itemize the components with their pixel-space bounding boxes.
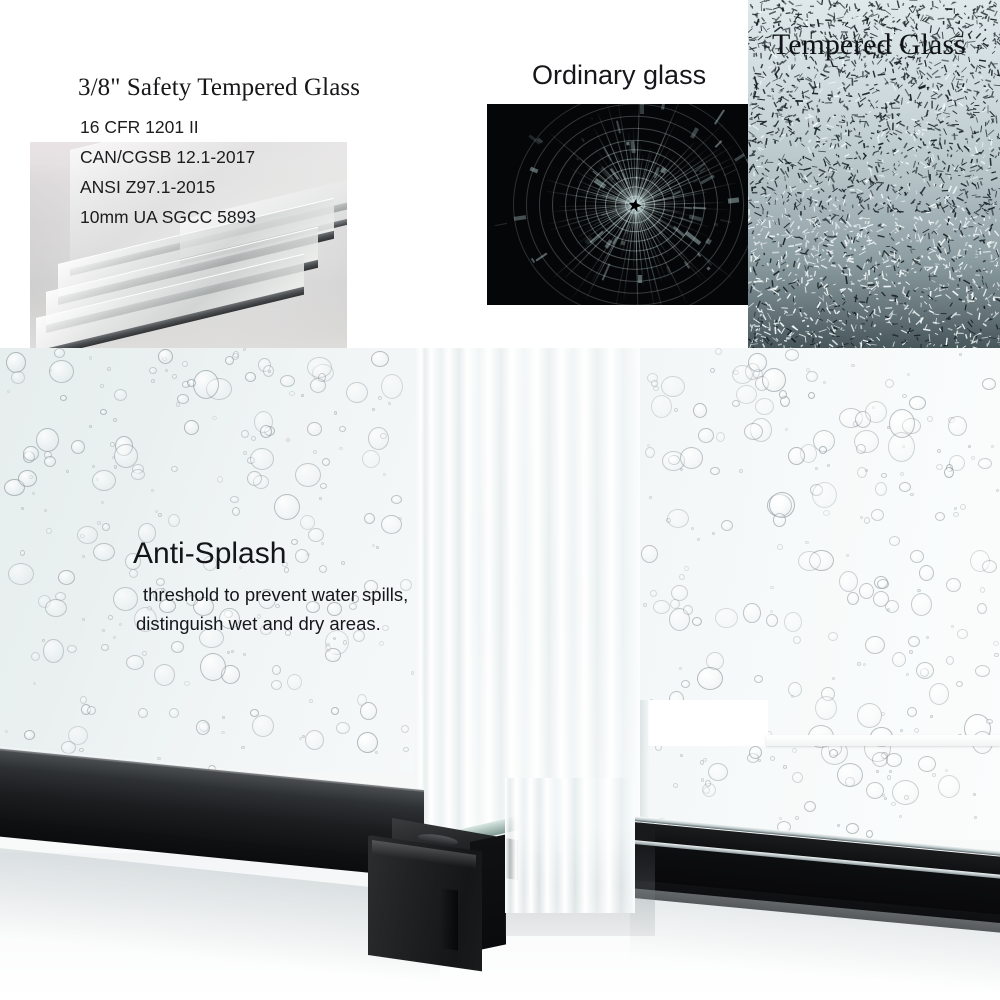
water-droplet: [747, 753, 759, 763]
water-droplet: [918, 756, 936, 772]
water-droplet: [24, 730, 35, 740]
water-droplet: [886, 753, 902, 767]
water-droplet: [20, 550, 25, 556]
water-droplet: [806, 368, 810, 372]
water-droplet: [100, 409, 107, 415]
water-droplet: [300, 515, 315, 530]
water-droplet: [813, 430, 835, 452]
water-droplet: [320, 483, 327, 489]
water-droplet: [291, 539, 298, 545]
water-droplet: [857, 703, 882, 728]
water-droplet: [937, 449, 941, 453]
water-droplet: [832, 677, 835, 680]
water-droplet: [302, 735, 305, 738]
water-droplet: [312, 364, 334, 382]
water-droplet: [272, 665, 281, 675]
water-droplet: [112, 456, 115, 459]
water-droplet: [697, 667, 723, 690]
water-droplet: [864, 517, 870, 524]
glass-shard: [640, 104, 644, 114]
water-droplet: [100, 384, 104, 388]
water-droplet: [948, 416, 967, 436]
water-droplet: [247, 471, 262, 486]
water-droplet: [286, 438, 290, 442]
water-droplet: [381, 374, 403, 399]
water-droplet: [902, 394, 907, 398]
water-droplet: [732, 400, 740, 407]
water-droplet: [945, 769, 948, 772]
water-droplet: [217, 476, 223, 483]
water-droplet: [23, 446, 39, 461]
water-droplet: [885, 379, 894, 388]
water-droplet: [176, 402, 180, 407]
water-droplet: [45, 599, 67, 617]
water-droplet: [982, 378, 996, 390]
water-droplet: [805, 541, 809, 544]
water-droplet: [305, 730, 324, 750]
water-droplet: [857, 467, 867, 478]
water-droplet: [54, 348, 65, 358]
water-droplet: [264, 426, 275, 436]
product-feature-image: 16 CFR 1201 II CAN/CGSB 12.1-2017 ANSI Z…: [0, 0, 1000, 1000]
water-droplet: [5, 730, 8, 733]
water-droplet: [762, 368, 786, 392]
water-droplet: [113, 636, 116, 639]
water-droplet: [669, 608, 690, 631]
water-droplet: [800, 444, 817, 463]
water-droplet: [8, 563, 34, 585]
water-droplet: [227, 651, 230, 654]
water-droplet: [881, 712, 885, 716]
water-droplet: [46, 528, 52, 534]
water-droplet: [877, 579, 889, 589]
water-droplet: [960, 504, 966, 510]
water-droplet: [411, 671, 414, 675]
water-droplet: [325, 648, 341, 662]
water-droplet: [182, 361, 188, 367]
water-droplet: [307, 422, 322, 436]
water-droplet: [403, 747, 409, 752]
water-droplet: [795, 816, 799, 820]
water-droplet: [43, 639, 64, 663]
water-droplet: [653, 600, 670, 614]
water-droplet: [791, 695, 794, 698]
water-droplet: [750, 418, 772, 442]
water-droplet: [855, 411, 871, 428]
water-droplet: [949, 455, 965, 471]
water-droplet: [715, 348, 722, 355]
water-droplet: [651, 395, 672, 418]
water-droplet: [953, 512, 959, 517]
water-droplet: [44, 509, 47, 512]
water-droplet: [119, 623, 122, 626]
water-droplet: [788, 447, 805, 465]
water-droplet: [252, 715, 274, 737]
water-droplet: [716, 432, 725, 442]
water-droplet: [668, 455, 680, 465]
water-droplet: [701, 778, 704, 782]
water-droplet: [87, 706, 96, 715]
water-droplet: [221, 665, 240, 684]
water-droplet: [243, 653, 246, 656]
water-droplet: [643, 603, 647, 607]
water-droplet: [42, 639, 45, 642]
water-droplet: [138, 708, 148, 718]
water-droplet: [232, 507, 240, 516]
water-droplet: [641, 545, 658, 563]
water-droplet: [126, 655, 144, 670]
water-droplet: [693, 403, 707, 418]
water-droplet: [110, 442, 115, 447]
water-droplet: [739, 469, 743, 473]
water-droplet: [339, 447, 343, 450]
water-droplet: [702, 783, 716, 797]
feature-title: Anti-Splash: [133, 537, 286, 571]
water-droplet: [721, 520, 733, 531]
water-droplet: [708, 763, 728, 781]
water-droplet: [936, 464, 943, 470]
water-droplet: [908, 636, 920, 647]
water-droplet: [909, 396, 926, 410]
water-droplet: [680, 754, 683, 757]
water-droplet: [854, 430, 879, 453]
water-droplet: [847, 592, 859, 605]
water-droplet: [147, 606, 152, 611]
water-droplet: [67, 645, 77, 653]
water-droplet: [769, 492, 795, 518]
water-droplet: [102, 629, 105, 632]
water-droplet: [158, 349, 173, 364]
water-droplet: [974, 816, 977, 819]
water-droplet: [971, 456, 975, 460]
water-droplet: [31, 652, 40, 661]
water-droplet: [944, 467, 954, 478]
water-droplet: [887, 608, 890, 611]
water-droplet: [318, 373, 326, 382]
water-droplet: [827, 464, 830, 467]
water-droplet: [309, 699, 313, 703]
water-droplet: [929, 683, 949, 705]
water-droplet: [157, 757, 161, 760]
water-droplet: [245, 372, 256, 382]
water-droplet: [705, 780, 711, 787]
water-droplet: [873, 591, 889, 607]
water-droplet: [671, 585, 688, 601]
glass-shard: [685, 207, 692, 209]
water-droplet: [872, 752, 888, 767]
water-droplet: [49, 360, 74, 383]
water-droplet: [680, 468, 683, 471]
ordinary-glass-label: Ordinary glass: [532, 60, 706, 91]
water-droplet: [113, 587, 138, 611]
water-droplet: [968, 445, 971, 448]
water-droplet: [667, 509, 689, 528]
water-droplet: [899, 482, 911, 492]
water-droplet: [187, 379, 196, 387]
water-droplet: [319, 565, 327, 573]
water-droplet: [885, 600, 899, 613]
water-droplet: [780, 396, 790, 407]
water-droplet: [837, 824, 840, 827]
water-droplet: [920, 668, 929, 677]
water-droplet: [230, 496, 239, 503]
water-droplet: [662, 451, 685, 471]
glass-shard: [626, 141, 630, 145]
water-droplet: [926, 636, 929, 639]
water-droplet: [169, 708, 179, 718]
water-droplet: [779, 390, 787, 399]
water-droplet: [881, 473, 887, 478]
water-droplet: [243, 348, 246, 351]
water-droplet: [993, 641, 999, 646]
water-droplet: [151, 379, 155, 383]
water-droplet: [165, 369, 168, 372]
water-droplet: [21, 507, 24, 510]
water-droplet: [325, 645, 331, 652]
water-droplet: [859, 583, 874, 599]
water-droplet: [973, 793, 976, 796]
water-droplet: [860, 516, 863, 519]
water-droplet: [154, 664, 175, 686]
water-droplet: [902, 445, 905, 448]
water-droplet: [837, 763, 863, 787]
water-droplet: [114, 465, 117, 469]
water-droplet: [253, 475, 269, 489]
water-droplet: [233, 351, 239, 358]
water-droplet: [168, 514, 180, 527]
water-droplet: [732, 365, 753, 384]
water-droplet: [978, 458, 992, 469]
water-droplet: [206, 378, 232, 400]
water-droplet: [865, 401, 887, 423]
bracket-notch: [440, 888, 458, 951]
ordinary-glass-broken-photo: [487, 104, 782, 305]
water-droplet: [80, 696, 87, 704]
water-droplet: [96, 478, 99, 481]
water-droplet: [810, 484, 823, 496]
water-droplet: [260, 425, 272, 438]
water-droplet: [846, 554, 849, 557]
water-droplet: [773, 513, 786, 527]
water-droplet: [785, 349, 799, 361]
water-droplet: [744, 423, 763, 440]
water-droplet: [829, 749, 838, 758]
water-droplet: [177, 394, 189, 404]
water-droplet: [341, 561, 345, 565]
water-droplet: [310, 378, 326, 393]
water-droplet: [295, 549, 309, 563]
water-droplet: [171, 641, 184, 653]
water-droplet: [907, 373, 910, 376]
water-droplet: [299, 737, 302, 740]
water-droplet: [92, 470, 116, 491]
water-droplet: [649, 496, 652, 499]
water-droplet: [372, 408, 375, 411]
water-droplet: [733, 370, 739, 375]
water-droplet: [200, 653, 226, 681]
water-droplet: [7, 390, 10, 393]
water-droplet: [82, 618, 85, 621]
water-droplet: [892, 780, 919, 805]
water-droplet: [876, 770, 879, 773]
water-droplet: [951, 625, 954, 628]
water-droplet: [758, 759, 761, 762]
water-droplet: [892, 652, 906, 667]
water-droplet: [792, 772, 803, 783]
water-droplet: [372, 544, 375, 547]
water-droplet: [79, 748, 84, 752]
water-droplet: [845, 777, 855, 787]
water-droplet: [271, 680, 282, 690]
water-droplet: [812, 482, 837, 508]
water-droplet: [301, 394, 304, 397]
water-droplet: [250, 709, 259, 717]
water-droplet: [871, 509, 884, 521]
water-droplet: [371, 351, 389, 367]
water-droplet: [809, 550, 834, 571]
water-droplet: [815, 467, 818, 470]
water-droplet: [68, 726, 88, 745]
water-droplet: [753, 369, 763, 379]
water-droplet: [360, 702, 377, 720]
water-droplet: [679, 667, 682, 670]
water-droplet: [322, 458, 330, 466]
water-droplet: [910, 550, 924, 563]
water-droplet: [398, 517, 402, 520]
water-droplet: [881, 752, 888, 759]
water-droplet: [172, 374, 177, 379]
water-droplet: [957, 629, 968, 639]
water-droplet: [806, 371, 818, 382]
water-droplet: [875, 482, 887, 496]
water-droplet: [948, 417, 955, 423]
water-droplet: [887, 775, 891, 780]
water-droplet: [804, 801, 816, 812]
water-droplet: [982, 560, 997, 573]
top-spec-band: 16 CFR 1201 II CAN/CGSB 12.1-2017 ANSI Z…: [0, 0, 1000, 348]
spec-list-item: 10mm UA SGCC 5893: [80, 202, 380, 232]
water-droplet: [114, 444, 138, 468]
water-droplet: [81, 704, 91, 715]
water-droplet: [792, 748, 797, 753]
water-droplet: [362, 450, 380, 468]
water-droplet: [115, 436, 133, 456]
spec-title: 3/8" Safety Tempered Glass: [78, 74, 360, 102]
water-droplet: [910, 493, 914, 496]
water-droplet: [874, 576, 888, 589]
water-droplet: [333, 637, 336, 640]
water-droplet: [882, 794, 885, 797]
water-droplet: [851, 364, 855, 367]
water-droplet: [401, 725, 409, 733]
water-droplet: [853, 421, 858, 427]
water-droplet: [900, 729, 903, 732]
water-droplet: [182, 381, 190, 388]
water-droplet: [376, 546, 379, 549]
water-droplet: [231, 650, 234, 653]
water-droplet: [287, 674, 302, 690]
water-droplet: [856, 444, 866, 454]
water-droplet: [927, 416, 933, 422]
glass-shard: [495, 223, 507, 226]
top-rail: [766, 735, 1000, 746]
water-droplet: [18, 470, 37, 487]
water-droplet: [700, 760, 704, 765]
water-droplet: [289, 391, 295, 396]
spec-list-item: ANSI Z97.1-2015: [80, 172, 380, 202]
water-droplet: [263, 365, 274, 377]
water-droplet: [113, 418, 117, 422]
water-droplet: [36, 428, 59, 452]
water-droplet: [710, 368, 715, 373]
water-droplet: [222, 716, 225, 719]
water-droplet: [828, 632, 838, 641]
water-droplet: [770, 586, 774, 589]
water-droplet: [107, 367, 111, 371]
water-droplet: [755, 398, 774, 415]
water-droplet: [703, 758, 707, 762]
water-droplet: [661, 376, 685, 397]
water-droplet: [698, 428, 714, 443]
water-droplet: [946, 656, 954, 665]
water-droplet: [241, 746, 245, 749]
water-droplet: [970, 550, 990, 572]
water-droplet: [151, 489, 154, 492]
water-droplet: [788, 682, 802, 697]
water-droplet: [872, 406, 875, 409]
water-droplet: [651, 380, 658, 387]
water-droplet: [930, 715, 933, 718]
water-droplet: [93, 543, 115, 561]
feature-line-1: threshold to prevent water spills,: [143, 584, 408, 606]
water-droplet: [674, 408, 678, 412]
water-droplet: [784, 612, 802, 632]
water-droplet: [783, 765, 787, 769]
feature-line-2: distinguish wet and dry areas.: [136, 613, 381, 635]
water-droplet: [683, 605, 693, 615]
right-glass-panel: [640, 348, 1000, 840]
glass-shard: [638, 275, 642, 283]
water-droplet: [250, 448, 274, 470]
water-droplet: [666, 518, 671, 523]
water-droplet: [712, 532, 715, 535]
water-droplet: [97, 521, 101, 525]
water-droplet: [391, 495, 402, 504]
water-droplet: [212, 416, 217, 420]
water-droplet: [917, 589, 921, 592]
water-droplet: [954, 507, 957, 510]
spec-list-item: CAN/CGSB 12.1-2017: [80, 142, 380, 172]
water-droplet: [334, 411, 337, 415]
water-droplet: [307, 357, 332, 378]
water-droplet: [379, 641, 384, 646]
glass-shard: [636, 177, 638, 180]
water-droplet: [38, 595, 51, 608]
water-droplet: [71, 440, 85, 454]
water-droplet: [956, 681, 963, 687]
water-droplet: [996, 489, 999, 492]
water-droplet: [364, 513, 375, 524]
water-droplet: [673, 783, 678, 788]
water-droplet: [221, 731, 225, 734]
water-droplet: [29, 475, 33, 479]
water-droplet: [132, 464, 144, 474]
water-droplet: [380, 433, 387, 439]
glass-shard: [591, 117, 593, 119]
water-droplet: [32, 492, 35, 495]
water-droplet: [243, 451, 247, 455]
water-droplet: [77, 526, 98, 544]
